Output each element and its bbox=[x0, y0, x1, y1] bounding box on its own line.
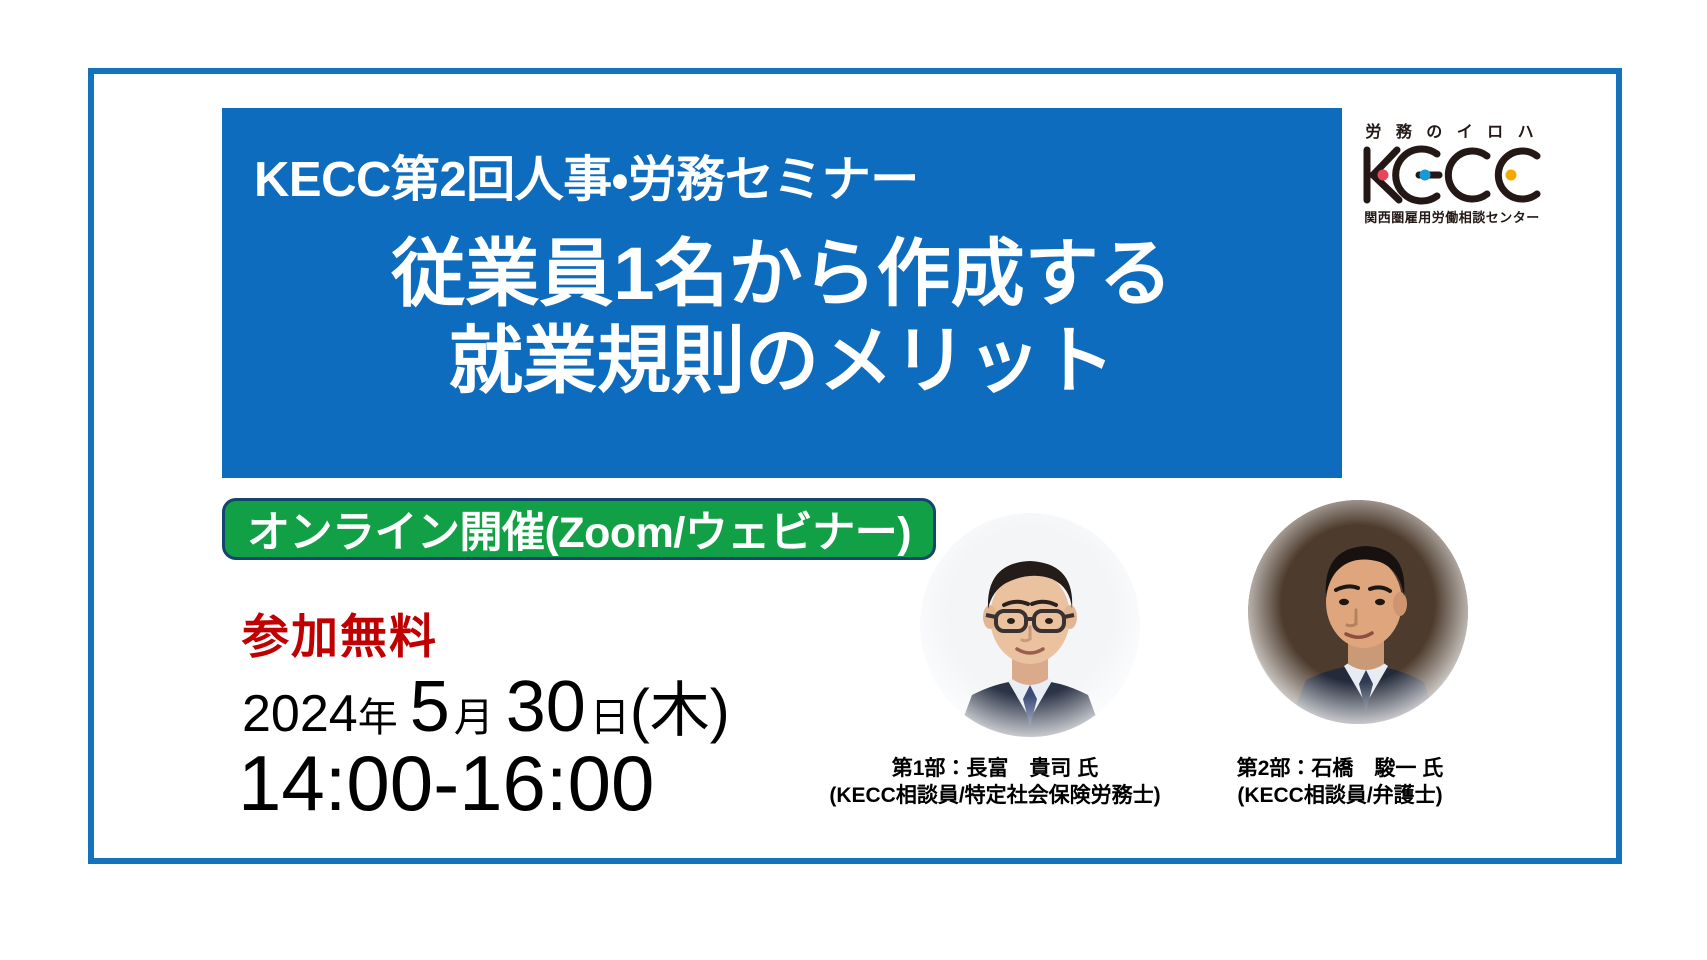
page-title: 従業員1名から作成する 就業規則のメリット bbox=[222, 230, 1342, 405]
date-month-unit: 月 bbox=[454, 685, 494, 743]
seminar-kicker: KECC第2回人事・労務セミナー bbox=[254, 154, 1342, 208]
title-line-2: 就業規則のメリット bbox=[222, 317, 1342, 404]
speaker-2-role: (KECC相談員/弁護士) bbox=[1190, 783, 1490, 810]
date-day: 30 bbox=[494, 666, 590, 748]
logo-subtitle: 関西圏雇用労働相談センター bbox=[1352, 207, 1552, 226]
speaker-1-role: (KECC相談員/特定社会保険労務士) bbox=[800, 783, 1190, 810]
speaker-1-portrait-image bbox=[920, 513, 1140, 738]
speaker-1-name: 第1部：長富 貴司 氏 bbox=[800, 756, 1190, 783]
speaker-captions: 第1部：長富 貴司 氏 (KECC相談員/特定社会保険労務士) 第2部：石橋 駿… bbox=[800, 756, 1500, 810]
date-day-unit: 日 bbox=[590, 685, 630, 743]
title-line-1: 従業員1名から作成する bbox=[222, 230, 1342, 317]
logo-dot-yellow bbox=[1506, 170, 1517, 181]
date-month: 5 bbox=[398, 666, 454, 748]
event-time: 14:00-16:00 bbox=[238, 738, 654, 829]
kecc-logo: 労 務 の イ ロ ハ bbox=[1352, 118, 1552, 226]
speaker-2-name: 第2部：石橋 駿一 氏 bbox=[1190, 756, 1490, 783]
speaker-1-photo bbox=[920, 513, 1140, 738]
speaker-2-portrait-image bbox=[1248, 500, 1468, 725]
online-format-label: オンライン開催(Zoom/ウェビナー) bbox=[247, 498, 911, 560]
date-year-unit: 年 bbox=[358, 685, 398, 743]
event-date: 2024 年 5 月 30 日 (木) bbox=[242, 662, 730, 749]
logo-dot-red bbox=[1378, 170, 1389, 181]
title-panel: KECC第2回人事・労務セミナー 従業員1名から作成する 就業規則のメリット bbox=[222, 108, 1342, 478]
logo-tagline: 労 務 の イ ロ ハ bbox=[1352, 118, 1552, 142]
free-admission-label: 参加無料 bbox=[242, 598, 438, 667]
kecc-wordmark-icon bbox=[1359, 144, 1545, 206]
date-year: 2024 bbox=[242, 684, 358, 744]
date-weekday: (木) bbox=[630, 662, 730, 749]
online-format-badge: オンライン開催(Zoom/ウェビナー) bbox=[222, 498, 936, 560]
seminar-flyer: KECC第2回人事・労務セミナー 従業員1名から作成する 就業規則のメリット 労… bbox=[0, 0, 1707, 960]
logo-dot-blue bbox=[1420, 170, 1431, 181]
speaker-2-photo bbox=[1248, 500, 1468, 725]
speaker-2-caption: 第2部：石橋 駿一 氏 (KECC相談員/弁護士) bbox=[1190, 756, 1490, 810]
speaker-1-caption: 第1部：長富 貴司 氏 (KECC相談員/特定社会保険労務士) bbox=[800, 756, 1190, 810]
